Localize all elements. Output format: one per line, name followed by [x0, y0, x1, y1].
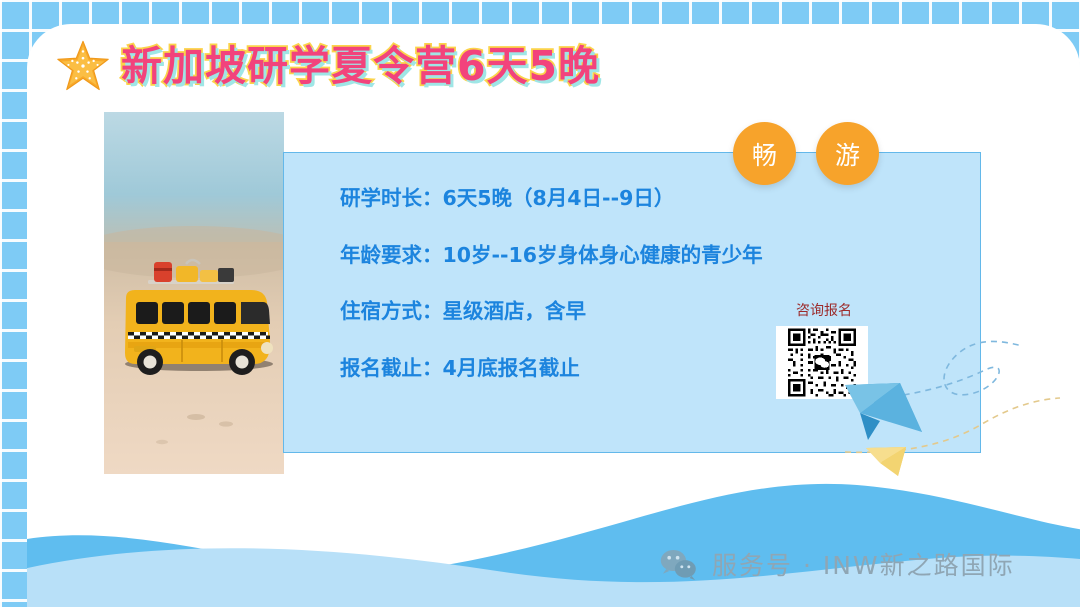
wave-decoration — [27, 467, 1080, 607]
wave-svg — [27, 467, 1080, 607]
poster-canvas: 新加坡研学夏令营6天5晚 — [0, 0, 1080, 607]
info-line-deadline: 报名截止：4月底报名截止 — [340, 358, 820, 379]
badge-changyou-1: 畅 — [733, 122, 796, 185]
footer: 服务号 · INW新之路国际 — [658, 546, 1015, 582]
wechat-icon — [658, 547, 700, 581]
bus-photo — [104, 112, 284, 474]
info-line-duration: 研学时长：6天5晚（8月4日--9日） — [340, 188, 820, 209]
footer-text: 服务号 · INW新之路国际 — [712, 546, 1015, 582]
qr-code-image[interactable] — [776, 326, 868, 399]
qr-block: 咨询报名 — [776, 300, 872, 399]
info-line-accommodation: 住宿方式：星级酒店，含早 — [340, 301, 820, 322]
starfish-icon — [55, 38, 111, 94]
title-row: 新加坡研学夏令营6天5晚 — [55, 38, 600, 94]
badge-changyou-2: 游 — [816, 122, 879, 185]
bus-photo-svg — [104, 112, 284, 474]
qr-caption: 咨询报名 — [776, 300, 872, 320]
page-title: 新加坡研学夏令营6天5晚 — [121, 46, 600, 87]
info-line-age: 年龄要求：10岁--16岁身体身心健康的青少年 — [340, 245, 820, 266]
info-list: 研学时长：6天5晚（8月4日--9日） 年龄要求：10岁--16岁身体身心健康的… — [340, 188, 820, 378]
